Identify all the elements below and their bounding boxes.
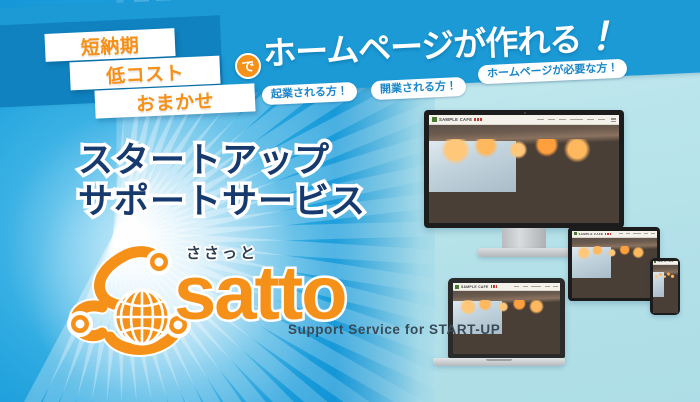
globe-icon [115, 290, 169, 344]
site-nav [537, 119, 605, 121]
site-title: SAMPLE CAFE [658, 261, 674, 263]
site-title: SAMPLE CAFE [461, 285, 489, 289]
site-flag-icon [605, 233, 612, 235]
site-nav [514, 286, 558, 287]
site-title: SAMPLE CAFE [579, 232, 604, 236]
device-mockups: SAMPLE CAFE SAMPLE CAFE [418, 110, 700, 402]
photo-lamps [572, 246, 657, 263]
hero-title: スタートアップ サポートサービス [78, 140, 366, 223]
hero-title-line-1: スタートアップ [78, 140, 366, 181]
satto-logo: ささっと satto Support Service for START-UP [66, 240, 436, 360]
site-flag-icon [491, 285, 498, 287]
photo-lamps [429, 139, 619, 166]
laptop-screen: SAMPLE CAFE [448, 278, 565, 358]
connector-badge-label: で [241, 59, 255, 73]
feature-label-3: おまかせ [135, 86, 214, 117]
hero-title-line-2: サポートサービス [78, 181, 366, 222]
smartphone-mockup: SAMPLE CAFE [650, 258, 680, 315]
promo-banner-image: 短納期 低コスト おまかせ で ホームページが作れる！ 起業される方！ 開業され… [0, 0, 700, 402]
site-hero-photo [572, 238, 657, 298]
feature-label-2: 低コスト [105, 58, 184, 89]
satto-wordmark: satto [174, 256, 346, 332]
feature-box-1: 短納期 [44, 28, 175, 62]
site-logo-icon [574, 232, 578, 236]
photo-lamps [653, 271, 678, 284]
monitor-website: SAMPLE CAFE [429, 115, 619, 223]
tablet-mockup: SAMPLE CAFE [568, 227, 660, 301]
monitor-screen: SAMPLE CAFE [424, 110, 624, 228]
webcam-icon [524, 112, 526, 114]
site-logo-icon [455, 285, 459, 289]
site-header: SAMPLE CAFE [572, 231, 657, 238]
banner-headline-exclaim: ！ [580, 16, 619, 60]
site-hero-photo [653, 265, 678, 313]
site-title: SAMPLE CAFE [439, 117, 472, 122]
laptop-notch [486, 359, 512, 361]
site-logo-icon [432, 117, 437, 122]
monitor-base [478, 248, 570, 257]
photo-lamps [453, 300, 560, 318]
audience-pill-label-1: 起業される方！ [271, 86, 348, 100]
audience-pill-label-2: 開業される方！ [380, 81, 457, 95]
monitor-neck [502, 228, 546, 250]
tablet-website: SAMPLE CAFE [572, 231, 657, 298]
laptop-website: SAMPLE CAFE [453, 283, 560, 354]
site-nav [619, 233, 655, 234]
phone-website: SAMPLE CAFE [653, 261, 678, 313]
site-header: SAMPLE CAFE [453, 283, 560, 291]
site-logo-icon [654, 261, 656, 263]
hamburger-icon [611, 118, 616, 122]
feature-label-1: 短納期 [80, 30, 140, 60]
site-header: SAMPLE CAFE [429, 115, 619, 125]
satto-tagline: Support Service for START-UP [288, 322, 500, 337]
audience-pill-label-3: ホームページが必要な方！ [487, 63, 619, 80]
site-flag-icon [474, 118, 482, 121]
site-hero-photo [429, 125, 619, 223]
